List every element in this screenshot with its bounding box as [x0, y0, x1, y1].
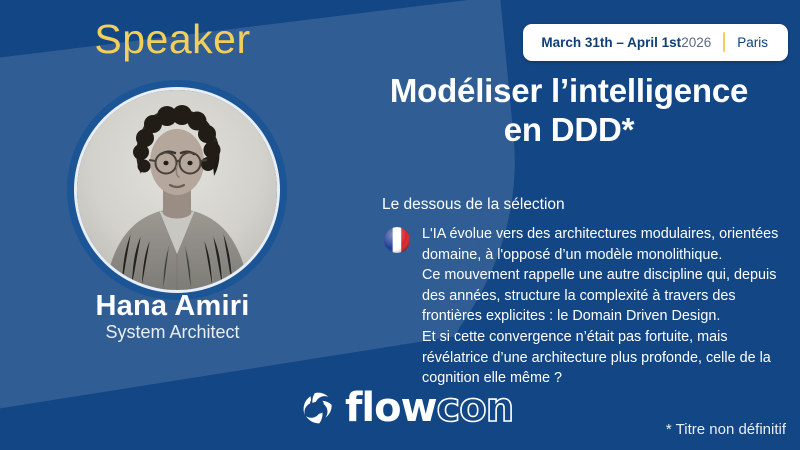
speaker-photo	[77, 90, 277, 290]
abstract-paragraph-1: L'IA évolue vers des architectures modul…	[422, 224, 794, 265]
logo-text-con: con	[437, 385, 514, 431]
abstract-paragraph-3: Et si cette convergence n’était pas fort…	[422, 327, 794, 389]
abstract-text: L'IA évolue vers des architectures modul…	[422, 224, 794, 389]
flowcon-wordmark: flowcon	[345, 388, 513, 428]
speaker-kicker: Speaker	[0, 17, 345, 62]
speaker-name: Hana Amiri	[0, 290, 345, 323]
abstract-paragraph-2: Ce mouvement rappelle une autre discipli…	[422, 265, 794, 327]
speaker-avatar	[77, 90, 277, 290]
talk-title: Modéliser l’intelligence en DDD*	[340, 72, 798, 149]
speaker-slide: Speaker	[0, 0, 800, 450]
talk-title-line-2: en DDD*	[340, 111, 798, 150]
france-flag-icon	[384, 227, 410, 253]
speaker-role: System Architect	[0, 322, 345, 343]
title-footnote: * Titre non définitif	[666, 421, 786, 438]
talk-abstract: L'IA évolue vers des architectures modul…	[384, 224, 794, 389]
logo-text-flow: flow	[345, 385, 437, 431]
section-label: Le dessous de la sélection	[382, 196, 565, 214]
speaker-panel: Speaker	[0, 0, 345, 450]
flowcon-swirl-icon	[298, 389, 336, 427]
talk-panel: Modéliser l’intelligence en DDD* Le dess…	[340, 0, 800, 450]
talk-title-line-1: Modéliser l’intelligence	[340, 72, 798, 111]
flowcon-logo: flowcon	[298, 388, 513, 428]
